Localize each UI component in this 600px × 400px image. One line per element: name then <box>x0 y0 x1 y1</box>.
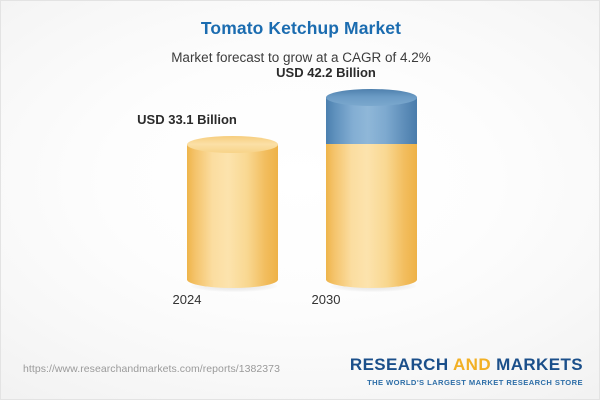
bar-segment-growth-2030 <box>326 97 417 144</box>
bar-segment-base-2024 <box>187 144 278 280</box>
brand-name-part1: RESEARCH <box>350 355 453 374</box>
x-tick-label-2024: 2024 <box>173 292 202 307</box>
segment-top-ellipse <box>187 136 278 153</box>
infographic-card: Tomato Ketchup Market Market forecast to… <box>0 0 600 400</box>
segment-top-ellipse <box>326 89 417 106</box>
brand-logo[interactable]: RESEARCH AND MARKETS THE WORLD'S LARGEST… <box>350 355 583 388</box>
value-label-2030: USD 42.2 Billion <box>276 65 376 80</box>
cylinder-2024 <box>187 144 278 280</box>
source-url-link[interactable]: https://www.researchandmarkets.com/repor… <box>23 363 280 375</box>
x-tick-label-2030: 2030 <box>312 292 341 307</box>
brand-name: RESEARCH AND MARKETS <box>350 355 583 375</box>
value-label-2024: USD 33.1 Billion <box>137 112 237 127</box>
segment-body <box>326 144 417 280</box>
brand-name-and: AND <box>453 355 491 374</box>
bar-segment-base-2030 <box>326 144 417 280</box>
brand-tagline: THE WORLD'S LARGEST MARKET RESEARCH STOR… <box>350 377 583 388</box>
brand-name-part2: MARKETS <box>491 355 583 374</box>
segment-body <box>187 144 278 280</box>
chart-plot-area: USD 33.1 Billion 2024 USD 42.2 Billion <box>1 1 600 349</box>
cylinder-2030 <box>326 97 417 280</box>
footer: https://www.researchandmarkets.com/repor… <box>1 349 600 399</box>
